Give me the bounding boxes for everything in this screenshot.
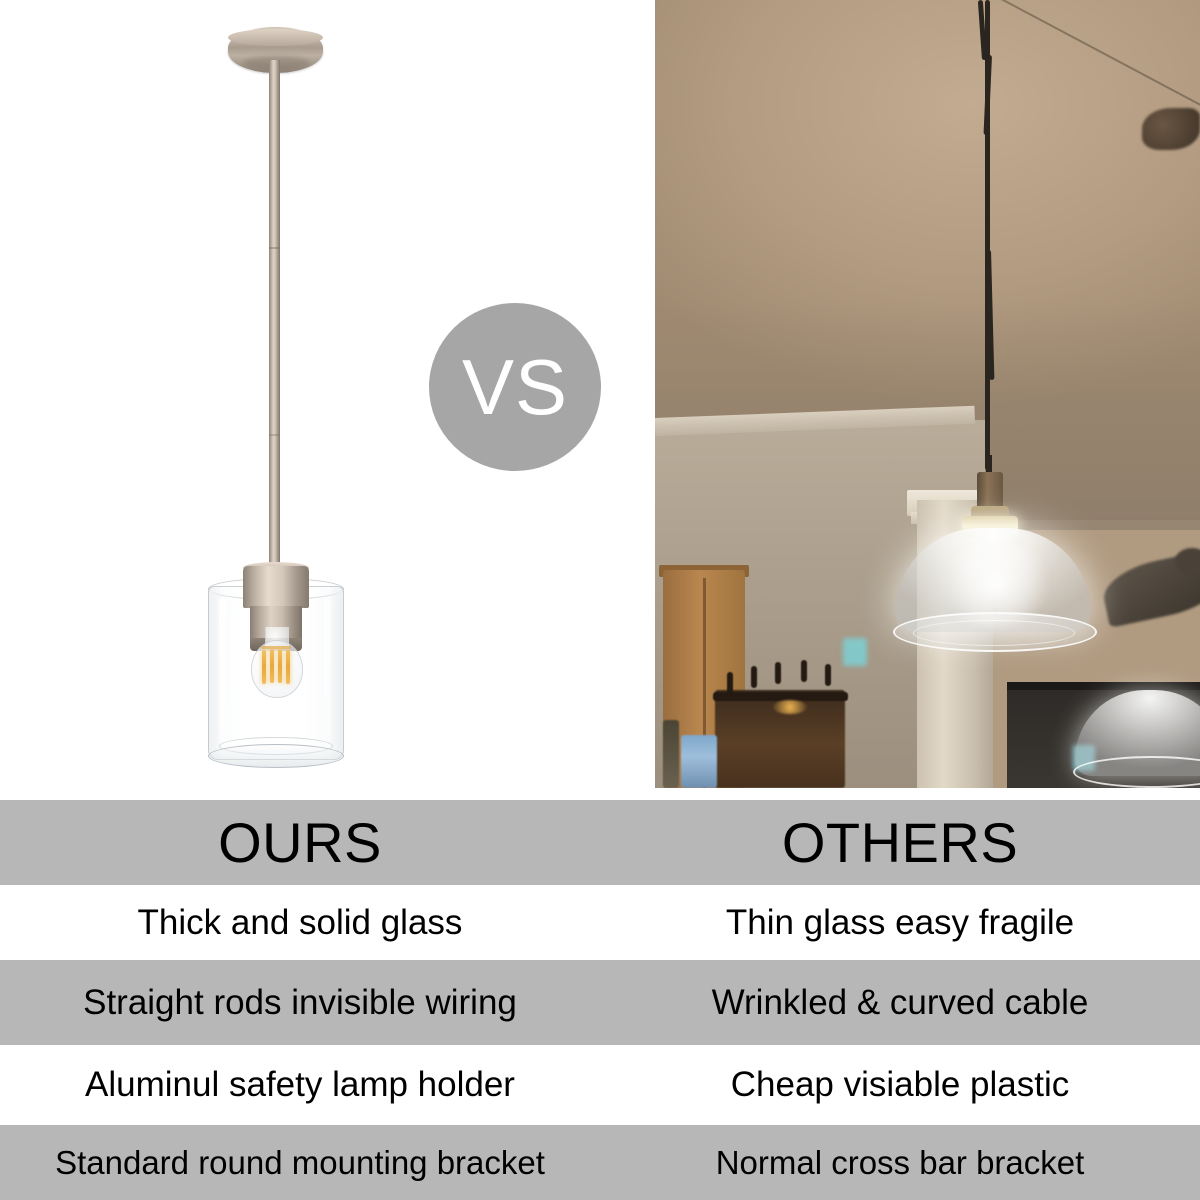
glass-shade-bottom-rim xyxy=(208,744,344,768)
bottle-blue-label xyxy=(681,735,717,788)
cell-others-2: Wrinkled & curved cable xyxy=(600,983,1200,1023)
rack-spike xyxy=(801,660,807,682)
cell-others-1: Thin glass easy fragile xyxy=(600,903,1200,943)
header-others: OTHERS xyxy=(600,810,1200,875)
table-row: Standard round mounting bracket Normal c… xyxy=(0,1125,1200,1200)
aluminum-socket-housing xyxy=(243,566,309,608)
table-row: Straight rods invisible wiring Wrinkled … xyxy=(0,960,1200,1045)
distant-ceiling-fixture xyxy=(1142,108,1200,150)
comparison-visual-area: VS xyxy=(0,0,1200,790)
rack-spike xyxy=(727,672,733,694)
header-ours: OURS xyxy=(0,810,600,875)
rod-joint-seam-lower xyxy=(269,434,280,436)
rack-spike xyxy=(775,662,781,684)
vs-badge: VS xyxy=(429,303,601,471)
cell-ours-3: Aluminul safety lamp holder xyxy=(0,1065,600,1105)
cell-ours-2: Straight rods invisible wiring xyxy=(0,983,600,1023)
dome-bottom-lip xyxy=(893,612,1097,652)
ours-product-photo: VS xyxy=(0,0,655,790)
teal-wall-glow xyxy=(843,638,867,666)
others-product-photo xyxy=(655,0,1200,788)
filament-bridge xyxy=(261,646,291,649)
comparison-table: OURS OTHERS Thick and solid glass Thin g… xyxy=(0,790,1200,1200)
filament-strip xyxy=(262,650,266,684)
cell-ours-4: Standard round mounting bracket xyxy=(0,1144,600,1182)
rack-spike xyxy=(751,666,757,688)
glass-highlight-right xyxy=(324,598,330,748)
glass-highlight-left xyxy=(219,598,226,748)
vs-badge-label: VS xyxy=(462,348,568,426)
cell-others-3: Cheap visiable plastic xyxy=(600,1065,1200,1105)
table-row: Aluminul safety lamp holder Cheap visiab… xyxy=(0,1045,1200,1125)
bottle-dark xyxy=(663,720,679,788)
rod-joint-seam xyxy=(269,247,280,249)
filament-strip xyxy=(278,649,282,683)
table-header-row: OURS OTHERS xyxy=(0,800,1200,885)
cell-others-4: Normal cross bar bracket xyxy=(600,1144,1200,1182)
filament-strip xyxy=(270,649,274,683)
table-row: Thick and solid glass Thin glass easy fr… xyxy=(0,885,1200,960)
rack-spike xyxy=(825,664,831,686)
filament-strip xyxy=(286,650,290,684)
wine-rack-bar xyxy=(713,692,848,701)
cell-ours-1: Thick and solid glass xyxy=(0,903,600,943)
warm-glow-reflection xyxy=(773,700,807,714)
product-comparison-image: VS xyxy=(0,0,1200,1200)
canopy-rim xyxy=(228,29,323,46)
straight-down-rod xyxy=(269,60,280,580)
